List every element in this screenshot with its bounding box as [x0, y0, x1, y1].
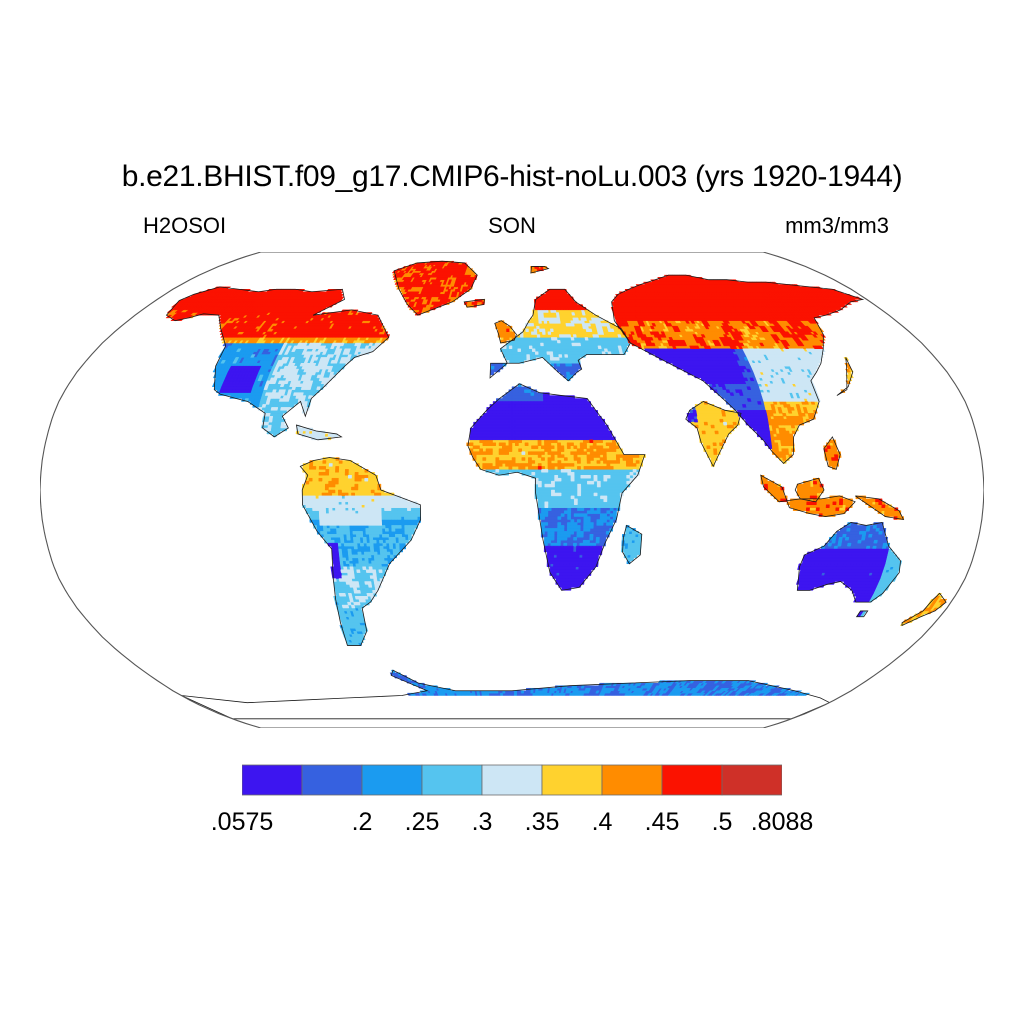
colorbar-cell [422, 765, 482, 795]
colorbar-labels: .0575.2.25.3.35.4.45.5.8088 [0, 807, 1024, 839]
page-title: b.e21.BHIST.f09_g17.CMIP6-hist-noLu.003 … [0, 160, 1024, 194]
colorbar-cell [302, 765, 362, 795]
colorbar-svg [242, 761, 782, 799]
colorbar-tick-label: .45 [645, 807, 680, 837]
colorbar-tick-label: .4 [592, 807, 613, 837]
map-outline [40, 252, 984, 728]
colorbar-tick-label: .25 [405, 807, 440, 837]
figure-canvas: b.e21.BHIST.f09_g17.CMIP6-hist-noLu.003 … [0, 0, 1024, 1024]
data-grid-cells [166, 261, 947, 695]
colorbar-cell [482, 765, 542, 795]
colorbar-tick-label: .5 [712, 807, 733, 837]
colorbar-cell [242, 765, 302, 795]
colorbar-cell [542, 765, 602, 795]
colorbar-cell [662, 765, 722, 795]
colorbar-cell [602, 765, 662, 795]
colorbar-tick-label: .2 [352, 807, 373, 837]
world-map [40, 252, 984, 728]
colorbar-cell [722, 765, 782, 795]
units-label: mm3/mm3 [785, 213, 889, 239]
colorbar-tick-label: .35 [525, 807, 560, 837]
map-svg [40, 252, 984, 728]
colorbar-tick-label: .3 [472, 807, 493, 837]
colorbar-tick-label: .0575 [211, 807, 274, 837]
colorbar-cell [362, 765, 422, 795]
colorbar [242, 761, 782, 799]
colorbar-tick-label: .8088 [751, 807, 814, 837]
